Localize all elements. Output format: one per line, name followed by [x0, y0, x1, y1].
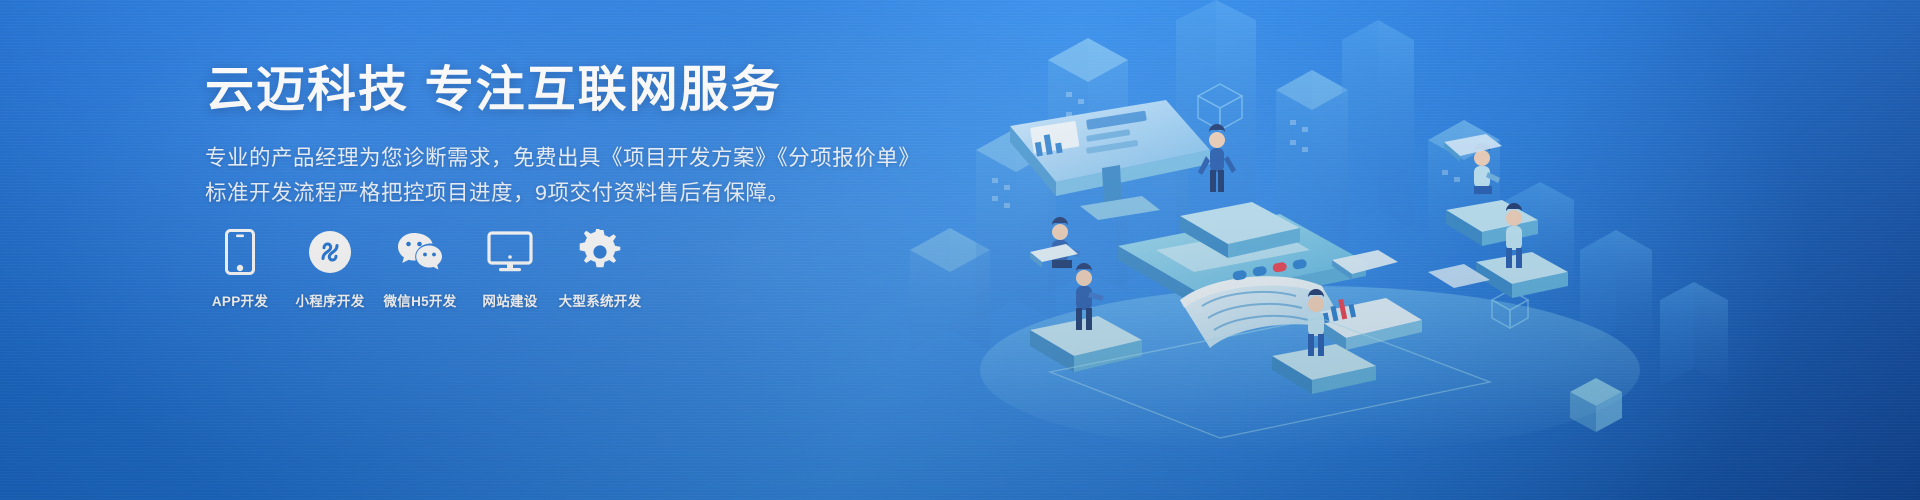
service-item-app[interactable]: APP开发: [205, 228, 275, 310]
gear-icon: [577, 228, 623, 276]
mini-program-icon: [308, 228, 352, 276]
mobile-phone-icon: [225, 228, 255, 276]
service-label: 大型系统开发: [559, 290, 642, 310]
service-label: 网站建设: [482, 290, 537, 310]
promo-banner: 云迈科技 专注互联网服务 专业的产品经理为您诊断需求，免费出具《项目开发方案》《…: [0, 0, 1920, 500]
subtitle-line-1: 专业的产品经理为您诊断需求，免费出具《项目开发方案》《分项报价单》: [205, 141, 925, 176]
banner-content: 云迈科技 专注互联网服务 专业的产品经理为您诊断需求，免费出具《项目开发方案》《…: [205, 62, 925, 210]
wechat-icon: [396, 228, 444, 276]
subtitle-line-2: 标准开发流程严格把控项目进度，9项交付资料售后有保障。: [205, 176, 925, 211]
service-list: APP开发 小程序开发: [205, 228, 635, 310]
service-item-wechat[interactable]: 微信H5开发: [385, 228, 455, 310]
service-label: APP开发: [212, 290, 268, 310]
service-item-website[interactable]: 网站建设: [475, 228, 545, 310]
service-item-miniprogram[interactable]: 小程序开发: [295, 228, 365, 310]
subtitle-block: 专业的产品经理为您诊断需求，免费出具《项目开发方案》《分项报价单》 标准开发流程…: [205, 141, 925, 211]
page-title: 云迈科技 专注互联网服务: [205, 62, 925, 119]
service-label: 小程序开发: [296, 290, 365, 310]
service-item-system[interactable]: 大型系统开发: [565, 228, 635, 310]
service-label: 微信H5开发: [383, 290, 456, 310]
hero-illustration: [880, 0, 1920, 500]
monitor-icon: [487, 228, 533, 276]
